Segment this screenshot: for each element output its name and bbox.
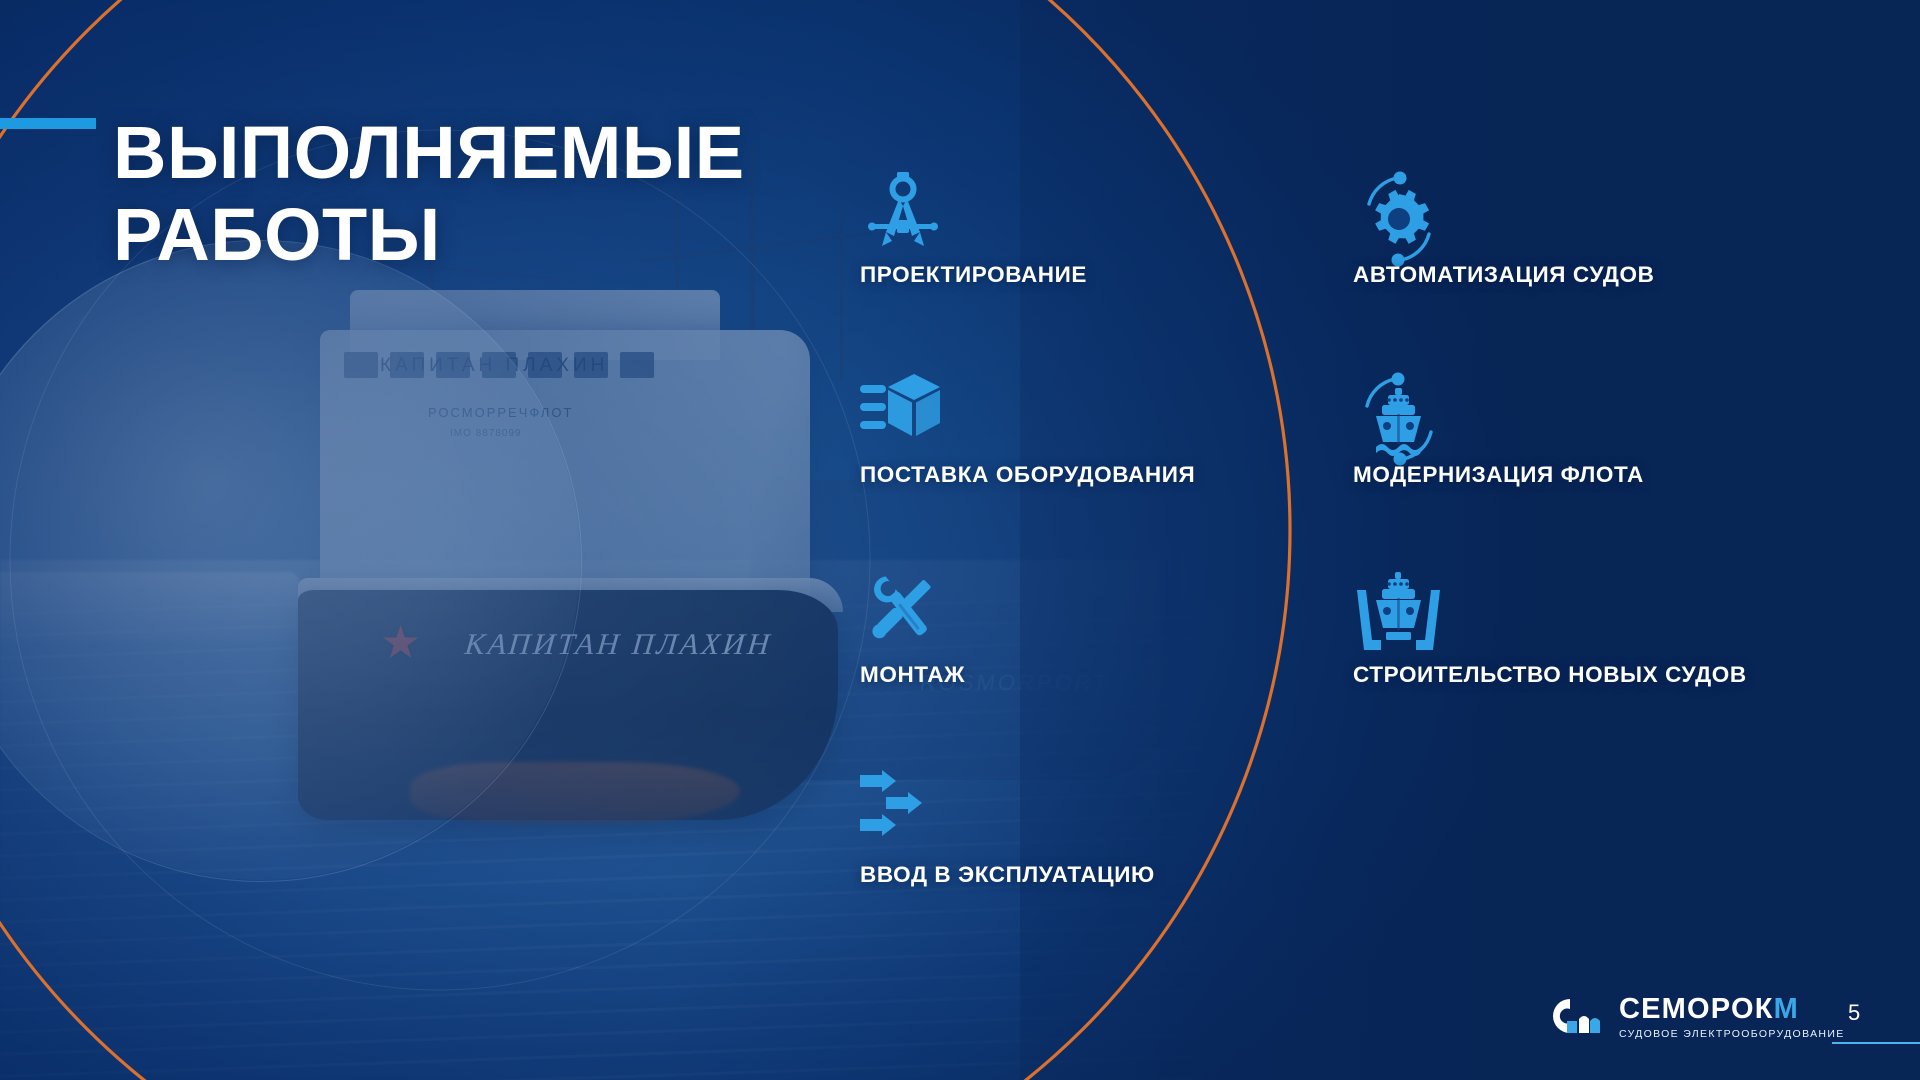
service-label: МОНТАЖ <box>860 662 1190 688</box>
screwdriver-wrench-icon <box>860 570 1190 648</box>
service-item-design[interactable]: ПРОЕКТИРОВАНИЕ <box>860 170 1190 370</box>
service-item-new-ship-construction[interactable]: СТРОИТЕЛЬСТВО НОВЫХ СУДОВ <box>1353 570 1823 770</box>
service-label: ВВОД В ЭКСПЛУАТАЦИЮ <box>860 862 1190 888</box>
logo-tagline: СУДОВОЕ ЭЛЕКТРООБОРУДОВАНИЕ <box>1619 1029 1845 1040</box>
gear-orbit-icon <box>1353 170 1823 248</box>
logo-word-main: СЕМОРОК <box>1619 993 1774 1025</box>
logo-word-accent: М <box>1774 993 1799 1025</box>
service-item-commissioning[interactable]: ВВОД В ЭКСПЛУАТАЦИЮ <box>860 770 1190 970</box>
service-item-equipment-supply[interactable]: ПОСТАВКА ОБОРУДОВАНИЯ <box>860 370 1190 570</box>
service-label: АВТОМАТИЗАЦИЯ СУДОВ <box>1353 262 1823 288</box>
page-title: ВЫПОЛНЯЕМЫЕ РАБОТЫ <box>113 112 813 278</box>
page-number: 5 <box>1848 1000 1860 1026</box>
column-left-services: ПРОЕКТИРОВАНИЕ ПОСТАВКА ОБОРУДОВАНИЯ <box>860 170 1190 970</box>
presentation-slide: ROSMORPORT КАПИТАН ПЛАХИН РОСМОРРЕЧФЛОТ … <box>0 0 1920 1080</box>
logo-mark-icon <box>1543 995 1605 1039</box>
column-right-services: АВТОМАТИЗАЦИЯ СУДОВ <box>1353 170 1823 770</box>
service-label: МОДЕРНИЗАЦИЯ ФЛОТА <box>1353 462 1823 488</box>
service-label: ПРОЕКТИРОВАНИЕ <box>860 262 1190 288</box>
ship-orbit-icon <box>1353 370 1823 448</box>
logo-text-block: СЕМОРОКМ СУДОВОЕ ЭЛЕКТРООБОРУДОВАНИЕ <box>1619 995 1845 1040</box>
logo-wordmark: СЕМОРОКМ <box>1619 995 1845 1024</box>
company-logo[interactable]: СЕМОРОКМ СУДОВОЕ ЭЛЕКТРООБОРУДОВАНИЕ <box>1543 995 1845 1040</box>
service-label: ПОСТАВКА ОБОРУДОВАНИЯ <box>860 462 1190 488</box>
compass-divider-icon <box>868 170 1190 248</box>
page-number-rule <box>1832 1042 1920 1044</box>
service-item-ship-automation[interactable]: АВТОМАТИЗАЦИЯ СУДОВ <box>1353 170 1823 370</box>
service-item-installation[interactable]: МОНТАЖ <box>860 570 1190 770</box>
service-item-fleet-modernization[interactable]: МОДЕРНИЗАЦИЯ ФЛОТА <box>1353 370 1823 570</box>
service-label: СТРОИТЕЛЬСТВО НОВЫХ СУДОВ <box>1353 662 1823 688</box>
package-delivery-icon <box>860 370 1190 448</box>
ship-drydock-icon <box>1353 570 1823 648</box>
title-accent-bar <box>0 118 96 129</box>
three-arrows-icon <box>860 770 1190 848</box>
